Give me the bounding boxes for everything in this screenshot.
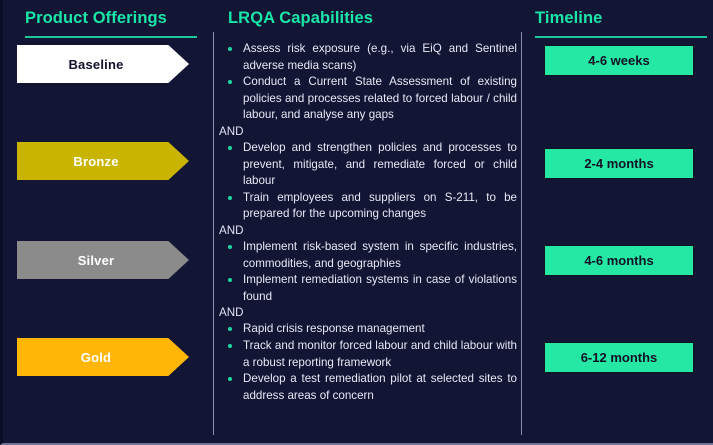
column-heading-lrqa-capabilities: LRQA Capabilities — [228, 9, 373, 28]
capabilities-column: Assess risk exposure (e.g., via EiQ and … — [217, 41, 517, 404]
timeline-label: 2-4 months — [584, 156, 653, 171]
bullet-icon — [228, 377, 232, 381]
capability-text: Rapid crisis response management — [243, 322, 425, 335]
slide-canvas: Product Offerings LRQA Capabilities Time… — [0, 0, 713, 445]
offering-label-silver: Silver — [78, 253, 115, 268]
column-divider-right — [521, 32, 522, 435]
timeline-box-gold[interactable]: 6-12 months — [544, 342, 694, 373]
capability-item: Assess risk exposure (e.g., via EiQ and … — [217, 41, 517, 74]
capability-text: Track and monitor forced labour and chil… — [243, 339, 517, 369]
column-divider-left — [213, 32, 214, 435]
offering-arrow-gold[interactable]: Gold — [17, 338, 189, 376]
timeline-box-bronze[interactable]: 2-4 months — [544, 148, 694, 179]
capability-text: Train employees and suppliers on S-211, … — [243, 191, 517, 221]
capability-list-1: Assess risk exposure (e.g., via EiQ and … — [217, 41, 517, 124]
timeline-box-silver[interactable]: 4-6 months — [544, 245, 694, 276]
capability-group-4: Rapid crisis response management Track a… — [217, 321, 517, 404]
offering-arrow-silver[interactable]: Silver — [17, 241, 189, 279]
offering-label-baseline: Baseline — [68, 57, 123, 72]
capability-item: Train employees and suppliers on S-211, … — [217, 190, 517, 223]
capability-group-3: Implement risk-based system in specific … — [217, 239, 517, 305]
capability-item: Rapid crisis response management — [217, 321, 517, 338]
column-heading-timeline: Timeline — [535, 9, 602, 28]
capability-list-2: Develop and strengthen policies and proc… — [217, 140, 517, 223]
capability-item: Develop and strengthen policies and proc… — [217, 140, 517, 190]
timeline-label: 4-6 weeks — [588, 53, 649, 68]
bullet-icon — [228, 146, 232, 150]
capability-connector-2: AND — [217, 223, 517, 239]
bullet-icon — [228, 278, 232, 282]
capability-list-4: Rapid crisis response management Track a… — [217, 321, 517, 404]
capability-text: Conduct a Current State Assessment of ex… — [243, 75, 517, 121]
capability-text: Implement remediation systems in case of… — [243, 273, 517, 303]
capability-item: Develop a test remediation pilot at sele… — [217, 371, 517, 404]
capability-connector-3: AND — [217, 305, 517, 321]
timeline-label: 4-6 months — [584, 253, 653, 268]
capability-item: Conduct a Current State Assessment of ex… — [217, 74, 517, 124]
capability-group-2: Develop and strengthen policies and proc… — [217, 140, 517, 223]
timeline-label: 6-12 months — [581, 350, 658, 365]
capability-connector-1: AND — [217, 124, 517, 140]
capability-item: Track and monitor forced labour and chil… — [217, 338, 517, 371]
capability-item: Implement remediation systems in case of… — [217, 272, 517, 305]
column-heading-rule-timeline — [535, 36, 707, 38]
column-heading-product-offerings: Product Offerings — [25, 9, 167, 28]
capability-group-1: Assess risk exposure (e.g., via EiQ and … — [217, 41, 517, 124]
timeline-box-baseline[interactable]: 4-6 weeks — [544, 45, 694, 76]
capability-list-3: Implement risk-based system in specific … — [217, 239, 517, 305]
bullet-icon — [228, 196, 232, 200]
capability-text: Develop a test remediation pilot at sele… — [243, 372, 517, 402]
capability-text: Assess risk exposure (e.g., via EiQ and … — [243, 42, 517, 72]
offering-label-gold: Gold — [81, 350, 111, 365]
offering-label-bronze: Bronze — [73, 154, 118, 169]
offering-arrow-bronze[interactable]: Bronze — [17, 142, 189, 180]
offering-arrow-baseline[interactable]: Baseline — [17, 45, 189, 83]
bullet-icon — [228, 47, 232, 51]
bullet-icon — [228, 245, 232, 249]
bullet-icon — [228, 327, 232, 331]
capability-text: Develop and strengthen policies and proc… — [243, 141, 517, 187]
column-heading-rule-offerings — [25, 36, 197, 38]
capability-item: Implement risk-based system in specific … — [217, 239, 517, 272]
capability-text: Implement risk-based system in specific … — [243, 240, 517, 270]
bullet-icon — [228, 344, 232, 348]
bullet-icon — [228, 80, 232, 84]
